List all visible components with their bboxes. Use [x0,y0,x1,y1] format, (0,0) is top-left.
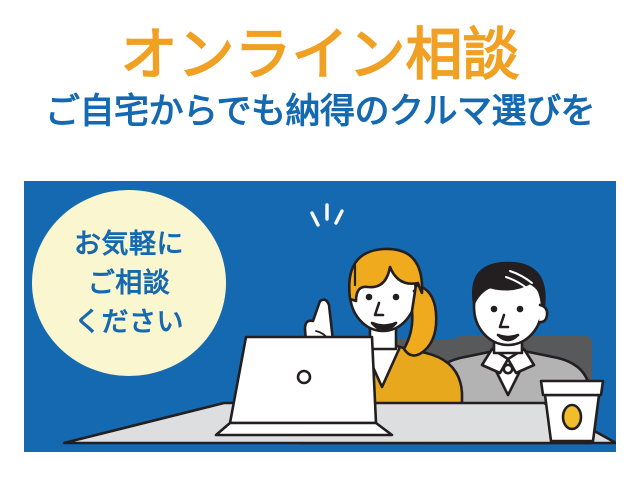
coffee-cup-lid [541,381,603,395]
sparkle-line-right [336,211,342,223]
man-eye-left [491,306,498,313]
page-subtitle: ご自宅からでも納得のクルマ選びを [0,90,640,134]
headline-area: オンライン相談 ご自宅からでも納得のクルマ選びを [0,22,640,134]
page-title: オンライン相談 [0,22,640,88]
man-ear [539,305,547,322]
woman-eye-right [393,294,400,301]
sparkle-marks [312,205,342,225]
badge-line-3: ください [74,303,184,342]
woman-eye-left [366,294,373,301]
illustration-panel: お気軽に ご相談 ください [24,181,616,452]
laptop-base [216,423,392,435]
man-shirt-button [504,365,512,373]
online-consultation-banner: オンライン相談 ご自宅からでも納得のクルマ選びを [0,0,640,480]
coffee-cup-logo [563,405,581,429]
badge-line-2: ご相談 [88,264,171,303]
badge-line-1: お気軽に [74,225,184,264]
sparkle-line-left [312,213,318,225]
man-eye-right [517,306,524,313]
laptop-logo [298,371,310,383]
badge-circle: お気軽に ご相談 ください [32,190,226,376]
